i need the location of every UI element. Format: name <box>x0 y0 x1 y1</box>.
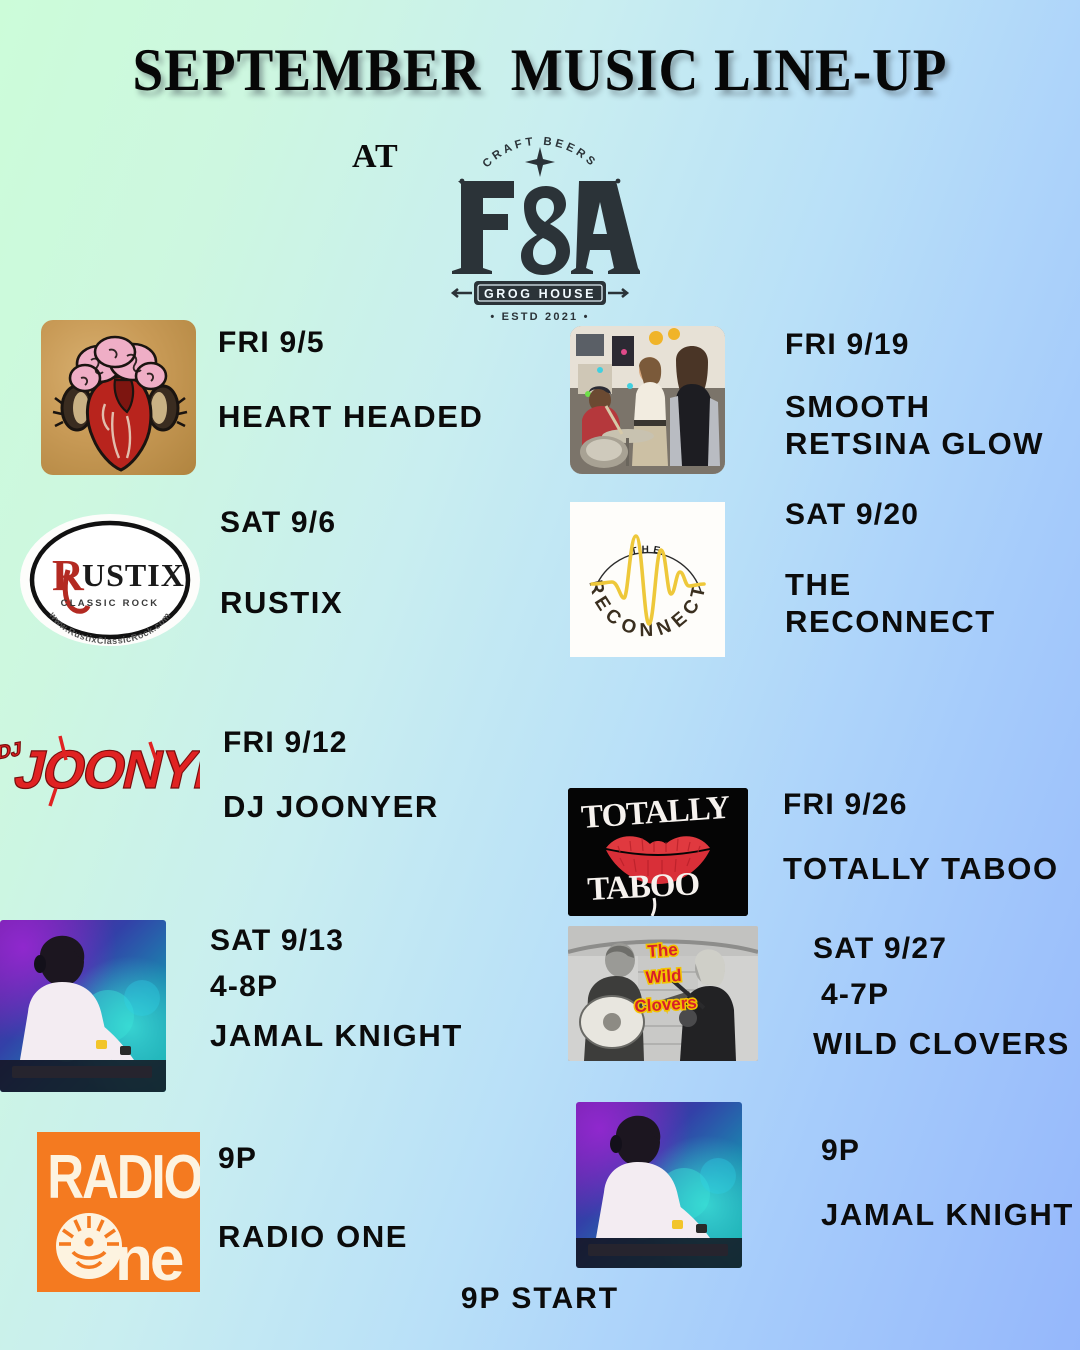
the-reconnect-logo: THE RECONNECT <box>570 502 725 657</box>
at-label: AT <box>352 138 399 176</box>
event-band: HEART HEADED <box>218 398 540 435</box>
svg-text:Wild: Wild <box>645 966 682 987</box>
september-music-lineup-poster: SEPTEMBER MUSIC LINE-UP AT CRAFT BEERS <box>0 0 1080 1350</box>
page-title: SEPTEMBER MUSIC LINE-UP <box>43 36 1037 105</box>
event-date: SAT 9/6 <box>220 506 540 540</box>
event-date: FRI 9/26 <box>783 788 1080 822</box>
event-band: SMOOTH RETSINA GLOW <box>785 388 1080 462</box>
event-date: FRI 9/12 <box>223 726 540 760</box>
event-date: SAT 9/27 <box>813 932 1080 966</box>
event-time: 4-7P <box>813 978 1080 1012</box>
svg-text:USTIX: USTIX <box>82 557 185 593</box>
event-row[interactable]: FRI 9/5 HEART HEADED <box>0 320 540 500</box>
footer-start-time: 9P START <box>0 1282 1080 1316</box>
event-row[interactable]: THE RECONNECT SAT 9/20 THE RECONNECT <box>540 490 1080 700</box>
jamal-knight-photo <box>0 920 166 1092</box>
smooth-retsina-glow-photo <box>570 326 725 474</box>
totally-taboo-logo: TOTALLY <box>568 788 748 916</box>
heart-headed-artwork <box>41 320 196 475</box>
svg-text:RADIO: RADIO <box>47 1142 200 1212</box>
wild-clovers-photo: The Wild Clovers <box>568 926 758 1061</box>
event-row[interactable]: TOTALLY <box>540 700 1080 910</box>
event-time: 9P <box>218 1142 540 1176</box>
event-row[interactable]: SAT 9/13 4-8P JAMAL KNIGHT <box>0 920 540 1132</box>
svg-text:The: The <box>647 940 678 961</box>
event-date: SAT 9/13 <box>210 924 540 958</box>
event-band: JAMAL KNIGHT <box>210 1017 540 1054</box>
event-band: TOTALLY TABOO <box>783 850 1080 887</box>
event-date: FRI 9/5 <box>218 326 540 360</box>
event-row[interactable]: R USTIX CLASSIC ROCK www.RustixClassicRo… <box>0 500 540 708</box>
svg-text:TABOO: TABOO <box>587 866 701 908</box>
event-band: DJ JOONYER <box>223 788 540 825</box>
event-row[interactable]: 9P JAMAL KNIGHT <box>540 1100 1080 1290</box>
right-event-column: FRI 9/19 SMOOTH RETSINA GLOW THE <box>540 320 1080 1290</box>
left-event-column: FRI 9/5 HEART HEADED R USTIX CLASSIC RO <box>0 320 540 1312</box>
svg-text:GROG HOUSE: GROG HOUSE <box>484 287 596 301</box>
event-band: WILD CLOVERS <box>813 1025 1080 1062</box>
event-time: 4-8P <box>210 970 540 1004</box>
event-row[interactable]: DJ JOONYER FRI 9/12 DJ JOONYER <box>0 708 540 920</box>
radio-one-logo: RADIO ne <box>37 1132 200 1292</box>
event-row[interactable]: The Wild Clovers SAT 9/27 4-7P WILD CLOV… <box>540 910 1080 1100</box>
svg-text:CLASSIC ROCK: CLASSIC ROCK <box>61 598 160 609</box>
event-band: THE RECONNECT <box>785 566 1080 640</box>
event-time: 9P <box>821 1134 1080 1168</box>
fa-grog-house-logo: CRAFT BEERS GROG HOUSE <box>440 118 640 323</box>
event-band: JAMAL KNIGHT <box>821 1196 1080 1233</box>
event-date: FRI 9/19 <box>785 328 1080 362</box>
event-band: RADIO ONE <box>218 1218 540 1255</box>
svg-text:JOONYER: JOONYER <box>9 739 200 800</box>
jamal-knight-photo-2 <box>576 1102 742 1268</box>
event-date: SAT 9/20 <box>785 498 1080 532</box>
rustix-logo: R USTIX CLASSIC ROCK www.RustixClassicRo… <box>20 514 200 646</box>
event-band: RUSTIX <box>220 584 540 621</box>
dj-joonyer-logo: DJ JOONYER <box>0 726 200 808</box>
event-row[interactable]: FRI 9/19 SMOOTH RETSINA GLOW <box>540 320 1080 490</box>
